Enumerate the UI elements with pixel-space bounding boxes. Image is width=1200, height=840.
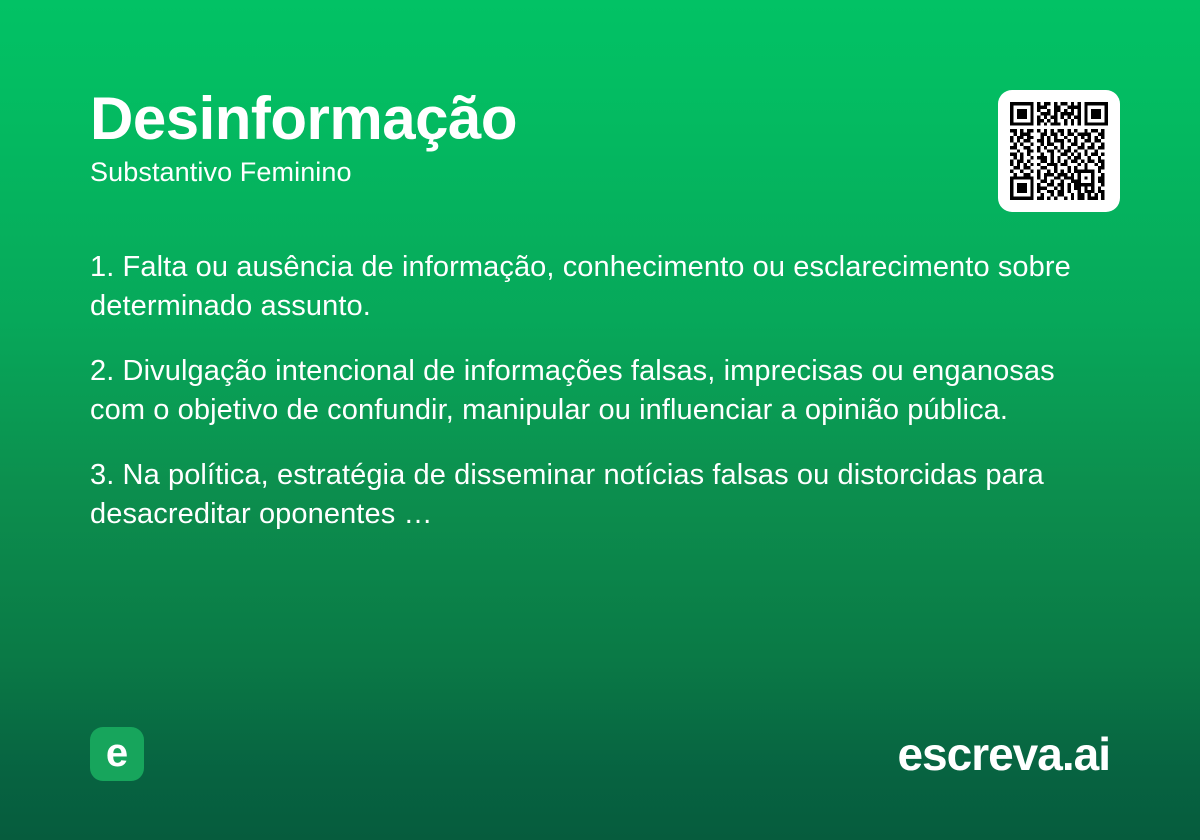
definition-item: 3. Na política, estratégia de disseminar… — [90, 456, 1110, 534]
brand-logo-letter: e — [106, 733, 128, 773]
page-title: Desinformação — [90, 88, 1110, 150]
definition-item: 2. Divulgação intencional de informações… — [90, 352, 1110, 430]
brand-wordmark[interactable]: escreva.ai — [897, 731, 1110, 777]
definition-item: 1. Falta ou ausência de informação, conh… — [90, 248, 1110, 326]
qr-code-icon — [1010, 102, 1108, 200]
brand-logo[interactable]: e — [90, 727, 144, 781]
definition-list: 1. Falta ou ausência de informação, conh… — [90, 248, 1110, 534]
word-class-label: Substantivo Feminino — [90, 156, 1110, 188]
card-header: Desinformação Substantivo Feminino — [90, 88, 1110, 189]
card-footer: e escreva.ai — [90, 726, 1110, 782]
qr-code[interactable] — [998, 90, 1120, 212]
dictionary-card: Desinformação Substantivo Feminino — [0, 0, 1200, 840]
